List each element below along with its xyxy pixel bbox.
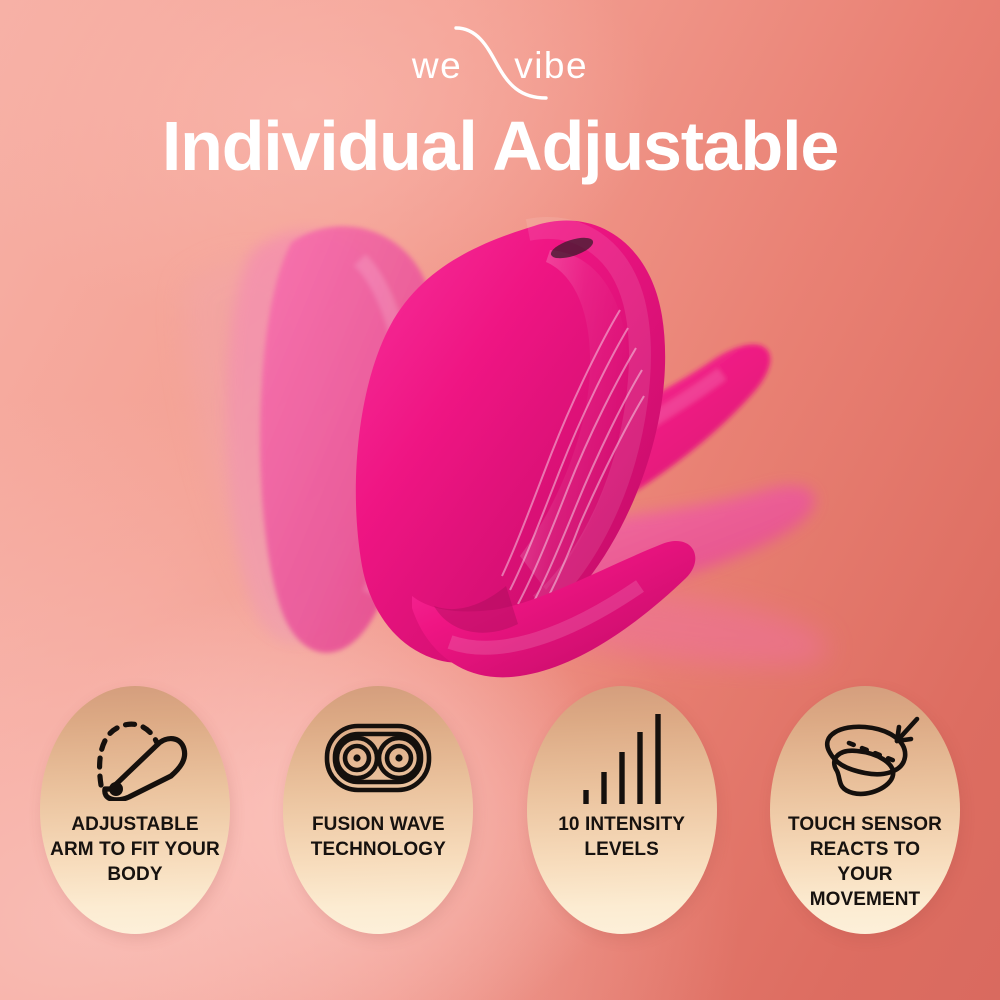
fusion-wave-icon <box>320 712 436 804</box>
page-title: Individual Adjustable <box>0 107 1000 185</box>
intensity-bars-icon <box>564 712 680 804</box>
wevibe-swoosh-icon <box>370 26 630 106</box>
brand-logo: we vibe <box>0 38 1000 94</box>
touch-sensor-icon <box>807 712 923 804</box>
feature-label: FUSION WAVE TECHNOLOGY <box>283 812 473 862</box>
feature-label: TOUCH SENSOR REACTS TO YOUR MOVEMENT <box>770 812 960 912</box>
feature-badge-fusion-wave[interactable]: FUSION WAVE TECHNOLOGY <box>283 686 473 934</box>
feature-badge-adjustable-arm[interactable]: ADJUSTABLE ARM TO FIT YOUR BODY <box>40 686 230 934</box>
feature-label: 10 INTENSITY LEVELS <box>527 812 717 862</box>
feature-label: ADJUSTABLE ARM TO FIT YOUR BODY <box>40 812 230 887</box>
adjustable-arm-icon <box>77 712 193 804</box>
promo-page: we vibe Individual Adjustable <box>0 0 1000 1000</box>
feature-badge-intensity-levels[interactable]: 10 INTENSITY LEVELS <box>527 686 717 934</box>
product-image <box>150 190 890 690</box>
feature-badge-touch-sensor[interactable]: TOUCH SENSOR REACTS TO YOUR MOVEMENT <box>770 686 960 934</box>
feature-badge-row: ADJUSTABLE ARM TO FIT YOUR BODY <box>40 686 960 934</box>
